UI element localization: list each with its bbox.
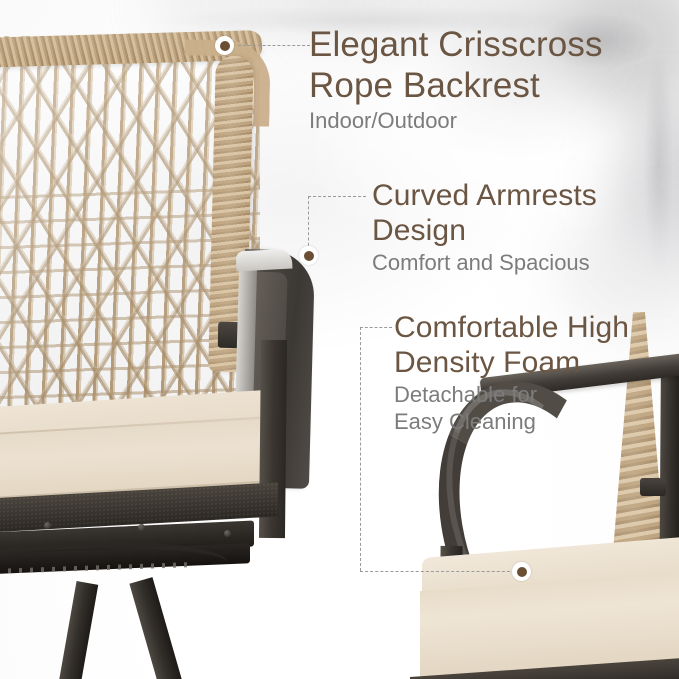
callout-2-text: Curved Armrests Design Comfort and Spaci…: [372, 178, 662, 276]
callout-3-marker-dot: [512, 562, 531, 581]
callout-3-leader-horizontal-top: [360, 327, 392, 328]
product-feature-image: Elegant Crisscross Rope Backrest Indoor/…: [0, 0, 679, 679]
callout-1-leader-line: [238, 45, 310, 46]
callout-3-subtitle: Detachable for Easy Cleaning: [394, 381, 674, 435]
callout-3-leader-horizontal-bottom: [360, 571, 515, 572]
callout-1-marker-dot: [215, 36, 234, 55]
callout-1-subtitle: Indoor/Outdoor: [309, 107, 659, 134]
callout-1-text: Elegant Crisscross Rope Backrest Indoor/…: [309, 24, 659, 134]
left-chair-armrest-top: [236, 249, 293, 272]
base-bolt: [138, 524, 145, 531]
callout-1-title: Elegant Crisscross Rope Backrest: [309, 24, 659, 106]
left-chair-photo: [0, 22, 326, 522]
callout-2-leader-horizontal: [308, 196, 366, 197]
callout-3-leader-vertical: [360, 327, 361, 571]
callout-3-text: Comfortable High Density Foam Detachable…: [394, 310, 674, 435]
callout-2-marker-dot: [299, 246, 318, 265]
callout-2-title: Curved Armrests Design: [372, 178, 662, 248]
base-bolt: [44, 522, 51, 529]
callout-2-subtitle: Comfort and Spacious: [372, 249, 662, 276]
base-bolt: [224, 530, 231, 537]
callout-3-title: Comfortable High Density Foam: [394, 310, 674, 380]
